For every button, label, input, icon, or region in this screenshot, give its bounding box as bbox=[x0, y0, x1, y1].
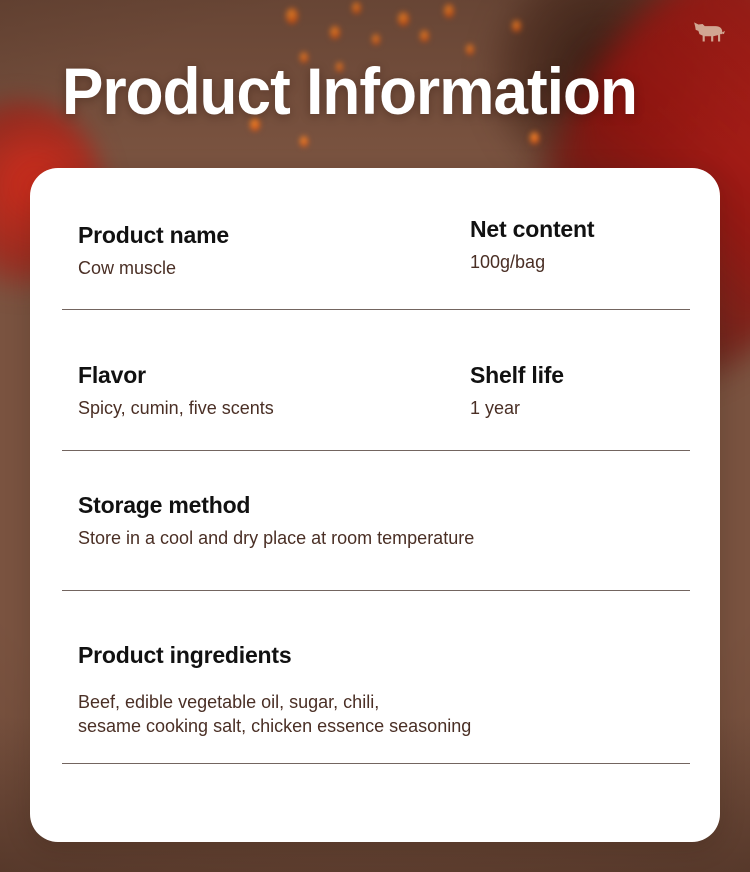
field-value: 1 year bbox=[470, 396, 564, 421]
page-title: Product Information bbox=[62, 58, 637, 124]
field-net-content: Net content 100g/bag bbox=[470, 216, 594, 274]
product-information-page: Product Information Product name Cow mus… bbox=[0, 0, 750, 872]
field-value: 100g/bag bbox=[470, 250, 594, 275]
row-divider bbox=[62, 590, 690, 591]
field-value: Spicy, cumin, five scents bbox=[78, 396, 274, 421]
field-value: Store in a cool and dry place at room te… bbox=[78, 526, 474, 551]
cow-icon bbox=[692, 20, 726, 46]
field-flavor: Flavor Spicy, cumin, five scents bbox=[78, 362, 274, 420]
field-value: Beef, edible vegetable oil, sugar, chili… bbox=[78, 690, 471, 740]
field-label: Net content bbox=[470, 216, 594, 244]
row-divider bbox=[62, 450, 690, 451]
field-product-ingredients: Product ingredients Beef, edible vegetab… bbox=[78, 642, 471, 739]
field-label: Product name bbox=[78, 222, 229, 250]
field-storage-method: Storage method Store in a cool and dry p… bbox=[78, 492, 474, 550]
field-label: Flavor bbox=[78, 362, 274, 390]
field-label: Storage method bbox=[78, 492, 474, 520]
field-label: Shelf life bbox=[470, 362, 564, 390]
field-value: Cow muscle bbox=[78, 256, 229, 281]
field-product-name: Product name Cow muscle bbox=[78, 222, 229, 280]
product-info-card: Product name Cow muscle Net content 100g… bbox=[30, 168, 720, 842]
field-label: Product ingredients bbox=[78, 642, 471, 670]
field-shelf-life: Shelf life 1 year bbox=[470, 362, 564, 420]
row-divider bbox=[62, 309, 690, 310]
row-divider bbox=[62, 763, 690, 764]
